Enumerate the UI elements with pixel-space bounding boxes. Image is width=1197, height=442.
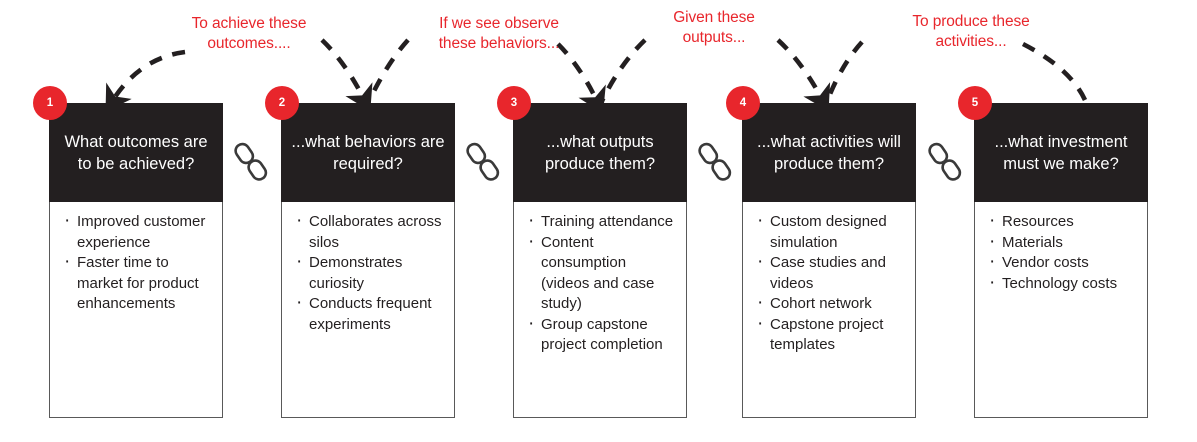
- card-badge-2: 2: [265, 86, 299, 120]
- card-heading-2: ...what behaviors are required?: [281, 103, 455, 202]
- card-body-4: Custom designed simulation Case studies …: [743, 202, 915, 417]
- list-item: Training attendance: [526, 212, 676, 233]
- chain-link-icon: [466, 139, 500, 187]
- arrow-to-card-2-right: [370, 40, 408, 99]
- list-item: Custom designed simulation: [755, 212, 905, 253]
- card-list-3: Training attendance Content consumption …: [526, 212, 676, 356]
- card-body-1: Improved customer experience Faster time…: [50, 202, 222, 417]
- chain-link-1-2: [234, 139, 268, 187]
- card-body-5: Resources Materials Vendor costs Technol…: [975, 202, 1147, 417]
- card-body-3: Training attendance Content consumption …: [514, 202, 686, 417]
- diagram-canvas: To achieve these outcomes.... If we see …: [0, 0, 1197, 442]
- list-item: Demonstrates curiosity: [294, 253, 444, 294]
- card-investment[interactable]: ...what investment must we make? Resourc…: [974, 103, 1148, 418]
- card-list-4: Custom designed simulation Case studies …: [755, 212, 905, 356]
- chain-link-2-3: [466, 139, 500, 187]
- caption-activities: To produce these activities...: [895, 12, 1047, 52]
- chain-link-4-5: [928, 139, 962, 187]
- list-item: Faster time to market for product enhanc…: [62, 253, 212, 315]
- list-item: Improved customer experience: [62, 212, 212, 253]
- card-list-1: Improved customer experience Faster time…: [62, 212, 212, 315]
- card-heading-3: ...what outputs produce them?: [513, 103, 687, 202]
- list-item: Capstone project templates: [755, 315, 905, 356]
- chain-link-icon: [234, 139, 268, 187]
- card-body-2: Collaborates across silos Demonstrates c…: [282, 202, 454, 417]
- caption-outcomes: To achieve these outcomes....: [180, 14, 318, 54]
- arrow-to-card-4-left: [778, 40, 822, 99]
- chain-link-3-4: [698, 139, 732, 187]
- card-badge-5: 5: [958, 86, 992, 120]
- card-heading-5-text: ...what investment must we make?: [984, 131, 1138, 175]
- card-heading-5: ...what investment must we make?: [974, 103, 1148, 202]
- arrow-trailing-right: [1023, 44, 1085, 100]
- list-item: Cohort network: [755, 294, 905, 315]
- caption-outputs: Given these outputs...: [655, 8, 773, 48]
- list-item: Case studies and videos: [755, 253, 905, 294]
- list-item: Materials: [987, 233, 1137, 254]
- arrow-to-card-3-right: [602, 40, 645, 101]
- chain-link-icon: [698, 139, 732, 187]
- card-behaviors[interactable]: ...what behaviors are required? Collabor…: [281, 103, 455, 418]
- card-list-2: Collaborates across silos Demonstrates c…: [294, 212, 444, 335]
- arrow-to-card-1: [113, 52, 185, 100]
- list-item: Collaborates across silos: [294, 212, 444, 253]
- caption-behaviors: If we see observe these behaviors...: [424, 14, 574, 54]
- list-item: Content consumption (videos and case stu…: [526, 233, 676, 315]
- list-item: Vendor costs: [987, 253, 1137, 274]
- card-heading-2-text: ...what behaviors are required?: [291, 131, 445, 175]
- card-heading-4: ...what activities will produce them?: [742, 103, 916, 202]
- card-list-5: Resources Materials Vendor costs Technol…: [987, 212, 1137, 294]
- card-badge-4: 4: [726, 86, 760, 120]
- list-item: Resources: [987, 212, 1137, 233]
- card-badge-3: 3: [497, 86, 531, 120]
- card-badge-1: 1: [33, 86, 67, 120]
- arrow-to-card-4-right: [828, 42, 862, 99]
- card-heading-1: What outcomes are to be achieved?: [49, 103, 223, 202]
- arrow-to-card-2-left: [322, 40, 364, 99]
- card-heading-1-text: What outcomes are to be achieved?: [59, 131, 213, 175]
- list-item: Conducts frequent experiments: [294, 294, 444, 335]
- chain-link-icon: [928, 139, 962, 187]
- list-item: Technology costs: [987, 274, 1137, 295]
- card-heading-4-text: ...what activities will produce them?: [752, 131, 906, 175]
- list-item: Group capstone project completion: [526, 315, 676, 356]
- card-outcomes[interactable]: What outcomes are to be achieved? Improv…: [49, 103, 223, 418]
- card-activities[interactable]: ...what activities will produce them? Cu…: [742, 103, 916, 418]
- card-heading-3-text: ...what outputs produce them?: [523, 131, 677, 175]
- card-outputs[interactable]: ...what outputs produce them? Training a…: [513, 103, 687, 418]
